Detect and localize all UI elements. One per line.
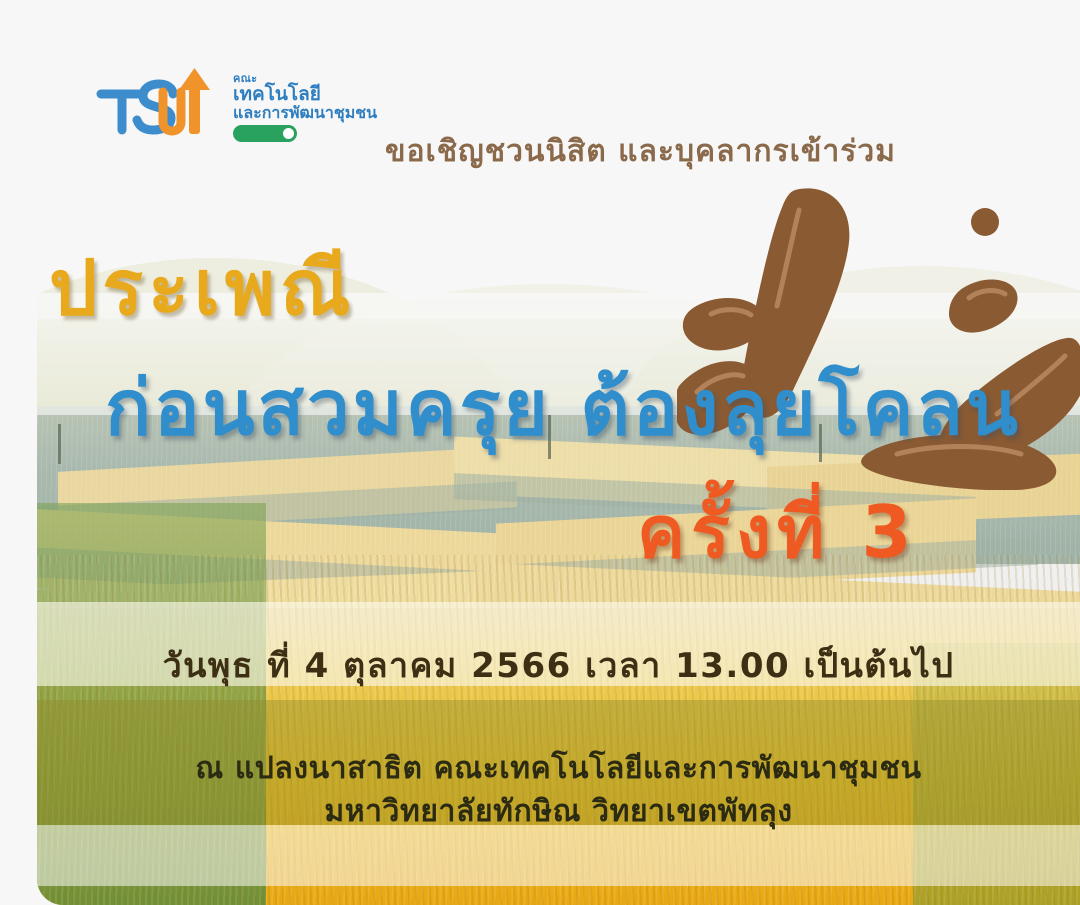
logo-faculty-text: คณะ เทคโนโลยี และการพัฒนาชุมชน xyxy=(233,73,377,142)
title-line-2: ก่อนสวมครุย ต้องลุยโคลน xyxy=(105,348,1021,468)
logo-toggle-pill-icon xyxy=(233,125,297,142)
tsu-logo: คณะ เทคโนโลยี และการพัฒนาชุมชน xyxy=(85,62,387,152)
title-line-3: ครั้งที่ 3 xyxy=(637,474,918,589)
logo-prefix: คณะ xyxy=(233,73,377,84)
venue-line-2: มหาวิทยาลัยทักษิณ วิทยาเขตพัทลุง xyxy=(37,791,1080,834)
tsu-wordmark-icon xyxy=(95,68,227,146)
logo-faculty-line2: และการพัฒนาชุมชน xyxy=(233,105,377,121)
poster-card: คณะ เทคโนโลยี และการพัฒนาชุมชน ขอเชิญชวน… xyxy=(37,30,1080,905)
poster-root: คณะ เทคโนโลยี และการพัฒนาชุมชน ขอเชิญชวน… xyxy=(0,0,1080,905)
bottom-band xyxy=(37,825,1080,886)
event-datetime: วันพุธ ที่ 4 ตุลาคม 2566 เวลา 13.00 เป็น… xyxy=(37,638,1080,692)
logo-faculty-line1: เทคโนโลยี xyxy=(233,85,377,104)
title-line-1: ประเพณี xyxy=(49,228,355,348)
venue-line-1: ณ แปลงนาสาธิต คณะเทคโนโลยีและการพัฒนาชุม… xyxy=(37,748,1080,791)
invitation-text: ขอเชิญชวนนิสิต และบุคลากรเข้าร่วม xyxy=(385,128,896,175)
fence-post xyxy=(58,424,61,464)
event-venue: ณ แปลงนาสาธิต คณะเทคโนโลยีและการพัฒนาชุม… xyxy=(37,748,1080,833)
